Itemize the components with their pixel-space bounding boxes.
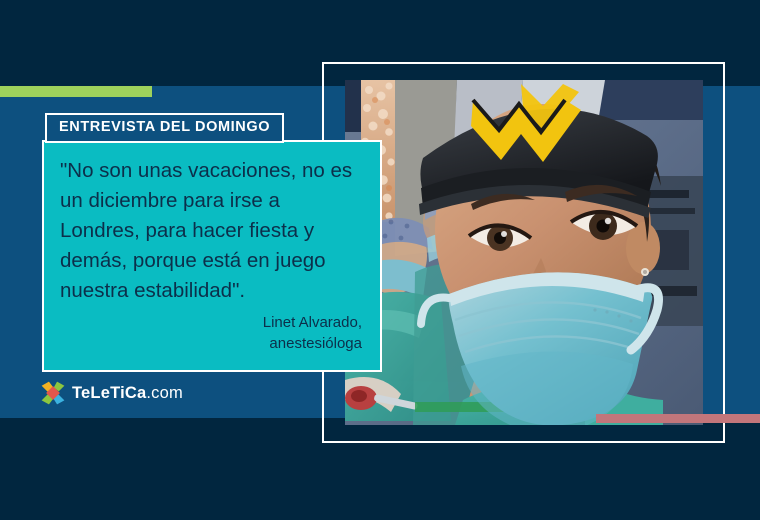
- quote-text: "No son unas vacaciones, no es un diciem…: [60, 156, 362, 306]
- kicker-label: ENTREVISTA DEL DOMINGO: [45, 113, 284, 143]
- attribution: Linet Alvarado, anestesióloga: [263, 312, 362, 354]
- attribution-role: anestesióloga: [263, 333, 362, 354]
- brand-name: TeLeTiCa: [72, 384, 146, 402]
- teletica-wordmark: TeLeTiCa.com: [72, 385, 183, 402]
- accent-bar-pink: [596, 414, 760, 423]
- brand-suffix: .com: [146, 384, 183, 402]
- accent-bar-green: [0, 86, 152, 97]
- quote-card: "No son unas vacaciones, no es un diciem…: [42, 140, 382, 372]
- teletica-logo: TeLeTiCa.com: [40, 380, 183, 406]
- graphic-canvas: ENTREVISTA DEL DOMINGO "No son unas vaca…: [0, 0, 760, 520]
- teletica-x-icon: [40, 380, 66, 406]
- attribution-name: Linet Alvarado,: [263, 312, 362, 333]
- photo-frame-border: [322, 62, 725, 443]
